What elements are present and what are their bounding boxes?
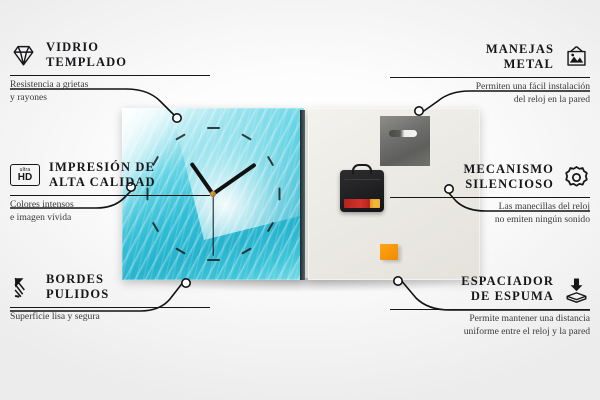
clock-tick — [207, 127, 220, 129]
diamond-icon — [10, 42, 37, 69]
feature-header: ultra HD IMPRESIÓN DEALTA CALIDAD — [10, 160, 210, 191]
mechanism-seam — [344, 179, 380, 180]
feature-divider — [390, 77, 590, 79]
battery-terminal — [373, 200, 378, 207]
clock-center-hub — [210, 191, 216, 197]
feature-title: BORDESPULIDOS — [46, 272, 109, 303]
feature-divider — [390, 197, 590, 199]
feature-manejas-metal: MANEJASMETAL Permiten una fácil instalac… — [390, 42, 590, 107]
feature-description: Permite mantener una distanciauniforme e… — [390, 313, 590, 339]
feature-header: MECANISMOSILENCIOSO — [390, 162, 590, 193]
feature-header: BORDESPULIDOS — [10, 272, 210, 303]
feature-description: Las manecillas del relojno emiten ningún… — [390, 201, 590, 227]
clock-tick — [278, 188, 280, 201]
ultra-hd-icon: ultra HD — [10, 164, 40, 186]
foam-spacer-icon — [563, 276, 590, 303]
battery — [344, 199, 380, 208]
mechanism-hook — [352, 164, 372, 174]
second-hand — [212, 194, 213, 256]
feature-bordes-pulidos: BORDESPULIDOS Superficie lisa y segura — [10, 272, 210, 324]
feature-divider — [10, 195, 210, 197]
feature-title: VIDRIOTEMPLADO — [46, 40, 127, 71]
feature-mecanismo-silencioso: MECANISMOSILENCIOSO Las manecillas del r… — [390, 162, 590, 227]
feature-description: Permiten una fácil instalacióndel reloj … — [390, 81, 590, 107]
clock-tick — [207, 259, 220, 261]
foam-spacer-pad — [380, 244, 398, 260]
feature-divider — [390, 309, 590, 311]
clock-mechanism — [340, 170, 384, 212]
feature-impresion-alta-calidad: ultra HD IMPRESIÓN DEALTA CALIDAD Colore… — [10, 160, 210, 225]
feature-header: MANEJASMETAL — [390, 42, 590, 73]
feature-title: IMPRESIÓN DEALTA CALIDAD — [49, 160, 156, 191]
feature-divider — [10, 75, 210, 77]
feature-description: Resistencia a grietasy rayones — [10, 79, 210, 105]
feature-title: MANEJASMETAL — [486, 42, 554, 73]
feature-header: VIDRIOTEMPLADO — [10, 40, 210, 71]
feature-espaciador-espuma: ESPACIADORDE ESPUMA Permite mantener una… — [390, 274, 590, 339]
metal-hanger-plate — [380, 116, 430, 166]
infographic-canvas: VIDRIOTEMPLADO Resistencia a grietasy ra… — [0, 0, 600, 400]
feature-header: ESPACIADORDE ESPUMA — [390, 274, 590, 305]
glass-edge — [300, 110, 305, 280]
feature-title: ESPACIADORDE ESPUMA — [461, 274, 554, 305]
polished-edges-icon — [10, 274, 37, 301]
wall-frame-icon — [563, 44, 590, 71]
feature-description: Superficie lisa y segura — [10, 311, 210, 324]
feature-divider — [10, 307, 210, 309]
hanger-keyhole-slot — [389, 130, 417, 137]
feature-description: Colores intensose imagen vívida — [10, 199, 210, 225]
feature-title: MECANISMOSILENCIOSO — [464, 162, 554, 193]
gear-icon — [563, 164, 590, 191]
feature-vidrio-templado: VIDRIOTEMPLADO Resistencia a grietasy ra… — [10, 40, 210, 105]
